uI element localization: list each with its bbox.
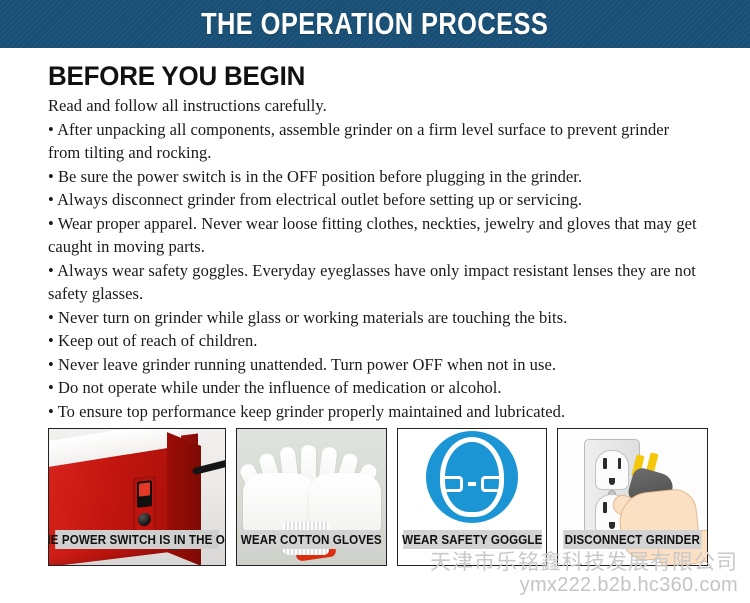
thumbnail-cotton-gloves: WEAR COTTON GLOVES [236, 428, 387, 566]
thumbnail-caption: THE POWER SWITCH IS IN THE OFF [55, 530, 219, 549]
safety-bullet: • Always wear safety goggles. Everyday e… [48, 259, 750, 306]
safety-bullet: • Do not operate while under the influen… [48, 376, 750, 400]
watermark-url: ymx222.b2b.hc360.com [430, 574, 738, 597]
safety-bullet: • Always disconnect grinder from electri… [48, 188, 750, 212]
safety-bullet: • Wear proper apparel. Never wear loose … [48, 212, 750, 259]
thumbnail-caption: WEAR COTTON GLOVES [242, 530, 380, 549]
page-title: THE OPERATION PROCESS [201, 6, 548, 42]
thumbnail-safety-goggle: WEAR SAFETY GOGGLE [397, 428, 548, 566]
intro-line: Read and follow all instructions careful… [48, 94, 750, 118]
thumbnail-caption: WEAR SAFETY GOGGLE [403, 530, 541, 549]
thumbnail-power-switch: THE POWER SWITCH IS IN THE OFF [48, 428, 226, 566]
safety-bullet: • After unpacking all components, assemb… [48, 118, 750, 165]
thumbnail-disconnect-grinder: DISCONNECT GRINDER [557, 428, 708, 566]
safety-bullet: • Never leave grinder running unattended… [48, 353, 750, 377]
rocker-switch-icon [137, 480, 152, 508]
main-content: BEFORE YOU BEGIN Read and follow all ins… [0, 48, 750, 423]
page-header-banner: THE OPERATION PROCESS [0, 0, 750, 48]
safety-bullet: • Never turn on grinder while glass or w… [48, 306, 750, 330]
goggles-icon [441, 475, 503, 493]
safety-bullet: • Keep out of reach of children. [48, 329, 750, 353]
safety-bullet: • Be sure the power switch is in the OFF… [48, 165, 750, 189]
safety-bullet: • To ensure top performance keep grinder… [48, 400, 750, 424]
section-heading: BEFORE YOU BEGIN [48, 62, 722, 90]
illustration-strip: THE POWER SWITCH IS IN THE OFF WEAR COTT… [48, 428, 708, 566]
thumbnail-caption: DISCONNECT GRINDER [564, 530, 702, 549]
